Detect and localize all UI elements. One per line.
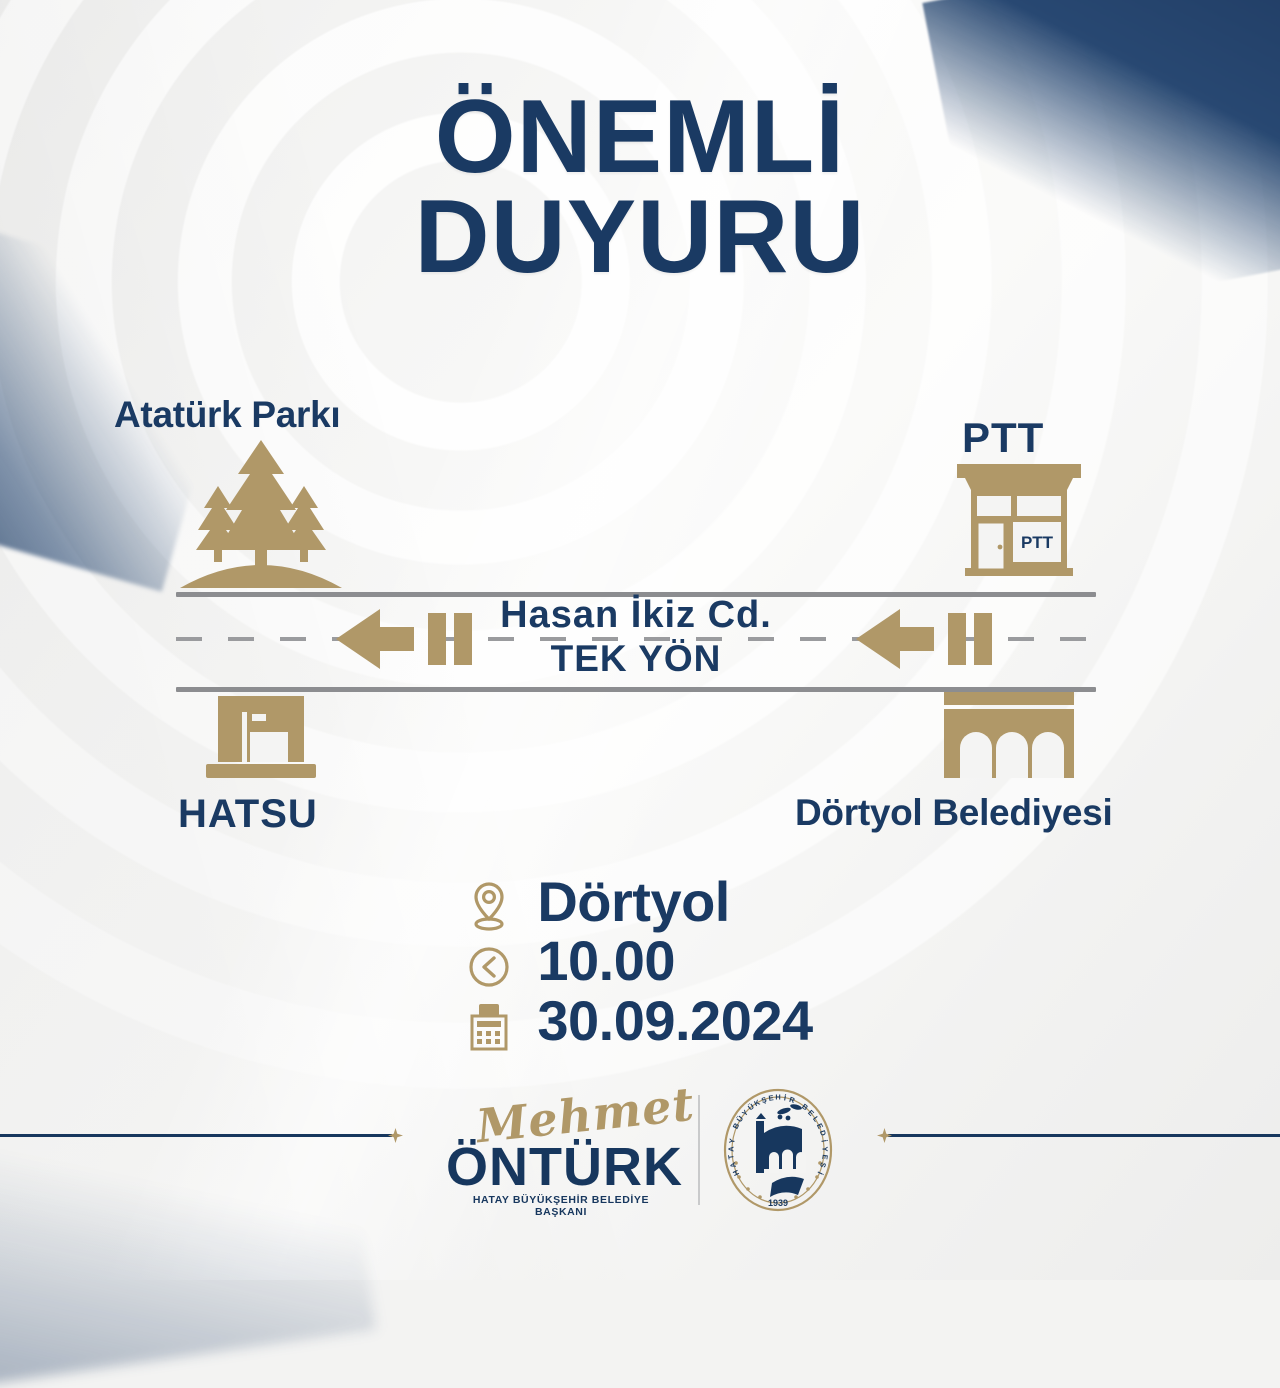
seal-ring-char: E [820,1154,830,1160]
seal-ring-char: A [728,1162,738,1170]
seal-ring-char: İ [816,1170,825,1176]
ptt-window-sign: PTT [1021,533,1054,552]
event-date: 30.09.2024 [537,991,812,1050]
clock-icon [467,943,511,996]
seal-ring-char: A [726,1147,735,1152]
location-pin-icon [467,880,511,937]
landmark-label-dortyol-belediyesi: Dörtyol Belediyesi [795,792,1112,834]
municipality-icon [938,690,1080,787]
one-way-arrow-left-1 [336,607,478,671]
seal-ring-char: E [768,1093,774,1103]
mayor-name-block: Mehmet ÖNTÜRK HATAY BÜYÜKŞEHİR BELEDİYE … [446,1086,676,1214]
event-details-text: Dörtyol 10.00 30.09.2024 [537,872,812,1050]
road-edge-bottom [176,687,1096,692]
road-edge-top [176,592,1096,597]
mayor-last-name: ÖNTÜRK [446,1136,676,1198]
page-title-line-2: DUYURU [0,188,1280,288]
footer: Mehmet ÖNTÜRK HATAY BÜYÜKŞEHİR BELEDİYE … [0,1070,1280,1280]
one-way-arrow-left-2 [856,607,998,671]
street-road: Hasan İkiz Cd. TEK YÖN [176,592,1096,692]
trees-icon [176,438,346,593]
event-details: Dörtyol 10.00 30.09.2024 [0,872,1280,1062]
event-time: 10.00 [537,931,812,990]
seal-ring-char: Ş [760,1095,767,1105]
post-office-icon: PTT [955,448,1083,583]
event-details-icons [467,872,511,1057]
seal-ring-char: S [818,1162,828,1169]
seal-ring-char: Y [820,1147,829,1152]
seal-ring-char: T [727,1155,737,1161]
mayor-title: HATAY BÜYÜKŞEHİR BELEDİYE BAŞKANI [446,1194,676,1218]
seal-ring-char: D [817,1129,827,1137]
page-title-line-1: ÖNEMLİ [0,88,1280,188]
street-map-diagram: Atatürk Parkı PTT [0,380,1280,850]
seal-ring-char: L [811,1114,821,1123]
event-venue: Dörtyol [537,872,812,931]
brand-separator [698,1095,700,1205]
seal-ring-char: R [788,1095,796,1105]
calendar-icon [467,1002,511,1057]
seal-ring-char: E [815,1121,825,1130]
landmark-label-hatsu: HATSU [178,792,318,837]
brand-lockup: Mehmet ÖNTÜRK HATAY BÜYÜKŞEHİR BELEDİYE … [0,1070,1280,1230]
seal-ring-char: H [775,1093,780,1102]
seal-ring-char: Y [727,1138,737,1144]
water-utility-icon [206,696,316,789]
seal-ring-char: İ [784,1093,787,1102]
municipality-seal-icon: 1939 HATAYBÜYÜKŞEHİRBELEDİYESİ [722,1087,834,1213]
landmark-label-ataturk-park: Atatürk Parkı [114,394,340,436]
seal-ring-char: İ [820,1139,829,1143]
page-title: ÖNEMLİ DUYURU [0,88,1280,288]
seal-ring-char: H [731,1169,741,1178]
